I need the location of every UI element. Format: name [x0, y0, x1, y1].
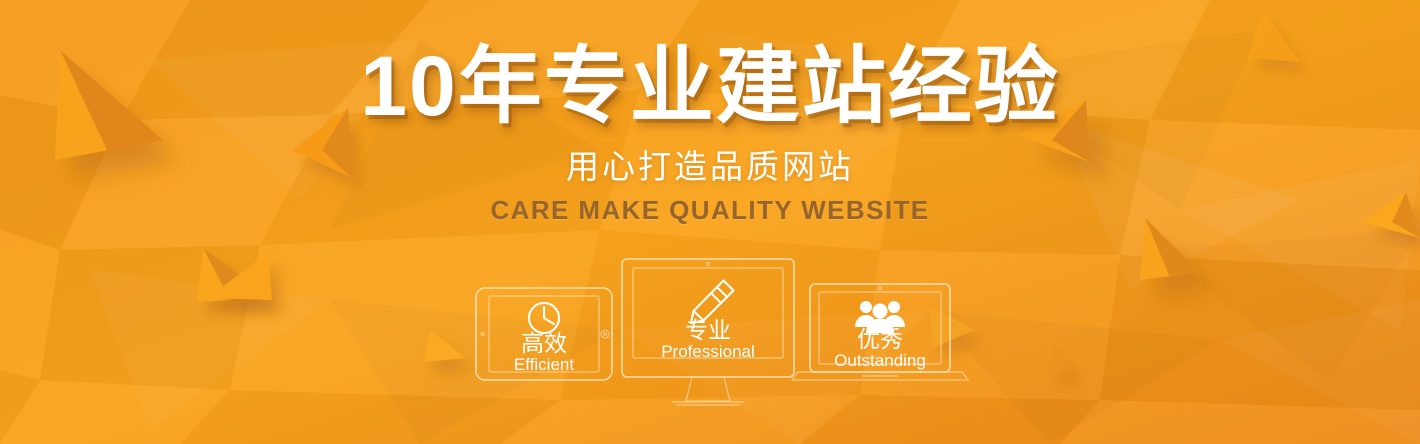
- page-title: 10年专业建站经验: [360, 44, 1059, 128]
- promo-banner: 10年专业建站经验 用心打造品质网站 CARE MAKE QUALITY WEB…: [0, 0, 1420, 444]
- banner-content: 10年专业建站经验 用心打造品质网站 CARE MAKE QUALITY WEB…: [0, 0, 1420, 444]
- subtitle-english: CARE MAKE QUALITY WEBSITE: [491, 197, 930, 223]
- subtitle-chinese: 用心打造品质网站: [566, 150, 854, 183]
